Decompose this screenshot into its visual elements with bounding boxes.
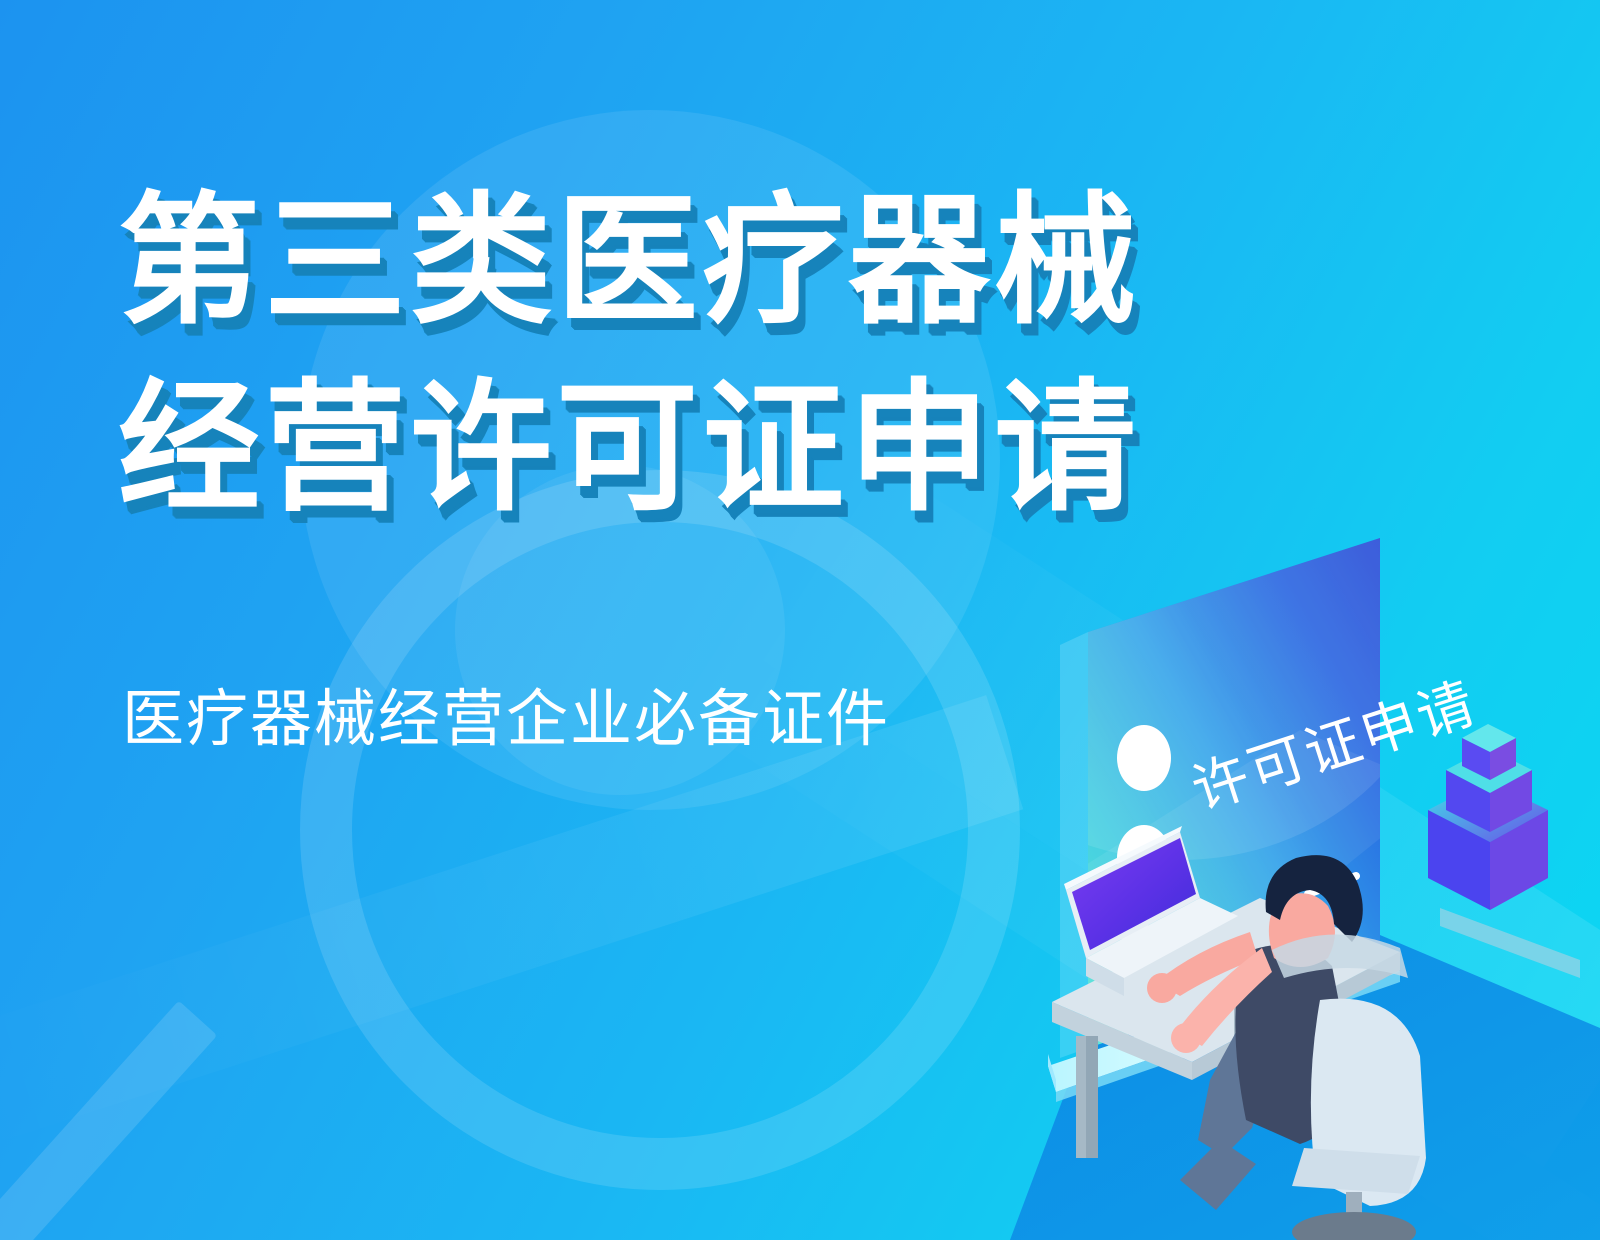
chair-seat bbox=[1292, 1148, 1420, 1194]
bullet-dot bbox=[1117, 725, 1171, 791]
headline-block: 第三类医疗器械 经营许可证申请 bbox=[118, 168, 1140, 543]
headline-line-2: 经营许可证申请 bbox=[118, 355, 1140, 542]
headline-line-1: 第三类医疗器械 bbox=[118, 168, 1140, 355]
workspace-illustration: 许可证申请 bbox=[880, 480, 1600, 1240]
subtitle-text: 医疗器械经营企业必备证件 bbox=[122, 668, 890, 758]
back-ledge bbox=[1440, 908, 1580, 978]
magnifier-handle-icon bbox=[0, 1001, 217, 1240]
poster-canvas: 第三类医疗器械 经营许可证申请 医疗器械经营企业必备证件 bbox=[0, 0, 1600, 1240]
stacked-boxes-decoration bbox=[1428, 724, 1548, 910]
background-sheen-c bbox=[0, 695, 1023, 1149]
